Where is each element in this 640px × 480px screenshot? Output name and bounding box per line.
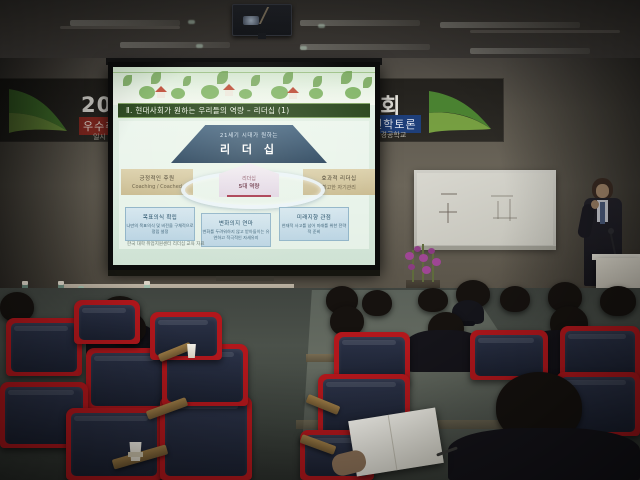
- screen-stand: [216, 276, 274, 281]
- seat: [74, 300, 140, 344]
- bottle-cap: [58, 281, 64, 285]
- bottle-cap: [22, 281, 28, 285]
- slide-diagram: 21세기 시대가 원하는 리 더 십 긍정적인 후원 Coaching / Co…: [119, 121, 369, 249]
- orchid-bloom: [422, 266, 431, 274]
- banner-logo-icon: [423, 83, 497, 137]
- core-underline: [227, 195, 271, 197]
- diagram-bottom-box-3: 미래지향 관점 현재적 사고를 넘어 미래를 위한 전략적 준비: [279, 207, 349, 241]
- light-reflection: [300, 46, 307, 50]
- wall-shadow: [0, 58, 120, 290]
- presenter-tie: [600, 202, 605, 224]
- slide-title-bar: Ⅱ. 현대사회가 원하는 우리들의 역량 – 리더십 (1): [118, 103, 370, 118]
- left-box-sub: Coaching / Coached: [132, 184, 182, 190]
- seat: [6, 318, 82, 376]
- microphone-icon: [608, 228, 614, 234]
- ceiling-light: [70, 20, 180, 26]
- audience-head: [500, 286, 530, 312]
- slide-surface: Ⅱ. 현대사회가 원하는 우리들의 역량 – 리더십 (1) 21세기 시대가 …: [113, 67, 375, 265]
- light-reflection: [196, 44, 203, 48]
- light-reflection: [188, 20, 195, 24]
- light-reflection: [318, 24, 325, 28]
- booklet-fold: [388, 415, 398, 470]
- whiteboard-surface: [417, 173, 553, 245]
- presenter-face: [596, 184, 609, 198]
- slide-title-text: Ⅱ. 현대사회가 원하는 우리들의 역량 – 리더십 (1): [126, 105, 289, 116]
- projector-lens: [243, 16, 259, 25]
- bottom-box-3-heading: 미래지향 관점: [297, 213, 331, 221]
- presenter-hand: [591, 200, 599, 209]
- diagram-roof: 21세기 시대가 원하는 리 더 십: [171, 125, 327, 163]
- right-box-sub: 확고한 자기관리: [322, 184, 356, 191]
- audience-head: [600, 286, 636, 316]
- ceiling-light: [300, 44, 430, 50]
- orchid-bloom: [405, 252, 414, 260]
- ceiling-seam: [60, 26, 180, 29]
- roof-subtitle: 21세기 시대가 원하는: [220, 131, 278, 139]
- bottle-cap: [144, 281, 150, 285]
- left-box-heading: 긍정적인 후원: [140, 174, 175, 182]
- orchid-bloom: [432, 258, 441, 266]
- diagram-bottom-box-1: 목표의식 확립 나만의 목표의식 및 비전을 구체적으로 정립 설정: [125, 207, 195, 241]
- diagram-core: 리더십 5대 역량: [219, 163, 279, 197]
- slide-header-artwork: [113, 67, 375, 105]
- diagram-bottom-box-2: 변화의지 연마 변화를 두려워하지 않고 받아들이는 유연하고 적극적인 자세유…: [201, 213, 271, 247]
- projector-mount-arm: [259, 7, 289, 24]
- orchid-bloom: [414, 246, 421, 252]
- roof-title: 리 더 십: [220, 141, 278, 157]
- slide-footer: 한국 대학 취업지원센터 리더십 교육 자료: [127, 241, 205, 247]
- ceiling-projector: [232, 4, 292, 36]
- projection-screen: Ⅱ. 현대사회가 원하는 우리들의 역량 – 리더십 (1) 21세기 시대가 …: [108, 62, 380, 270]
- foreground-person-shoulders: [448, 428, 640, 480]
- orchid-bloom: [428, 248, 435, 254]
- bottom-box-3-detail: 현재적 사고를 넘어 미래를 위한 전략적 준비: [280, 223, 348, 236]
- bottom-box-2-detail: 변화를 두려워하지 않고 받아들이는 유연하고 적극적인 자세유지: [202, 229, 270, 242]
- core-line-2: 5대 역량: [239, 182, 260, 190]
- ceiling-light: [120, 42, 230, 48]
- whiteboard: [414, 170, 556, 248]
- projector-mount: [258, 33, 266, 39]
- ceiling-light: [440, 22, 580, 28]
- ceiling-light: [470, 48, 590, 54]
- audience-head: [362, 290, 392, 316]
- core-line-1: 리더십: [242, 175, 256, 182]
- orchid-bloom: [408, 264, 415, 270]
- right-box-heading: 효과적 리더십: [322, 174, 357, 182]
- paper-cup-band: [128, 452, 143, 457]
- photo-scene: 200 우수취업 일시 2009 수회 공전학토론 학교 환경공학교: [0, 0, 640, 480]
- bottom-box-1-heading: 목표의식 확립: [143, 213, 177, 221]
- bottom-box-2-heading: 변화의지 연마: [219, 219, 253, 227]
- audience-head: [418, 288, 448, 312]
- ceiling-seam: [470, 30, 620, 33]
- bottom-box-1-detail: 나만의 목표의식 및 비전을 구체적으로 정립 설정: [126, 223, 194, 236]
- orchid-bloom: [419, 254, 428, 262]
